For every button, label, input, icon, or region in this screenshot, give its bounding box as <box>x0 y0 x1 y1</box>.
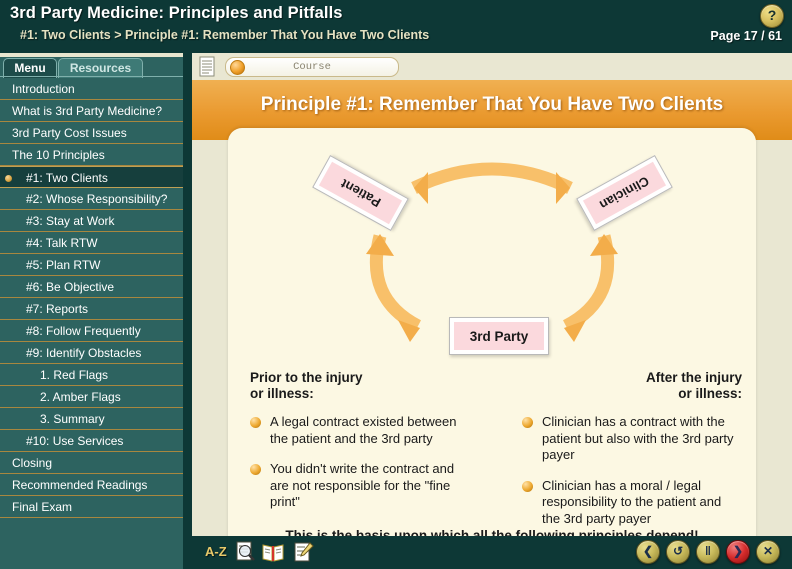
course-tab[interactable]: Course <box>225 57 399 77</box>
left-heading-line1: Prior to the injury <box>250 370 363 385</box>
right-heading-line2: or illness: <box>678 386 742 401</box>
sidebar-item-8-follow-frequently[interactable]: #8: Follow Frequently <box>0 320 183 342</box>
bullet-item: A legal contract existed between the pat… <box>250 414 465 447</box>
page-indicator: Page 17 / 61 <box>710 29 782 43</box>
back-button[interactable]: ❮ <box>636 540 660 564</box>
notes-pencil-icon[interactable] <box>293 541 315 563</box>
sidebar-item-closing[interactable]: Closing <box>0 452 183 474</box>
diagram-node-third-party-label: 3rd Party <box>454 322 544 350</box>
sidebar-item-label: #4: Talk RTW <box>0 232 183 254</box>
bullet-dot-icon <box>522 481 533 492</box>
course-player: 3rd Party Medicine: Principles and Pitfa… <box>0 0 792 569</box>
sidebar-item-3-stay-at-work[interactable]: #3: Stay at Work <box>0 210 183 232</box>
content-topbar: Course <box>192 53 792 80</box>
bullet-text: Clinician has a moral / legal responsibi… <box>542 478 721 526</box>
glossary-book-icon[interactable] <box>262 541 284 563</box>
bullet-item: Clinician has a contract with the patien… <box>522 414 742 464</box>
course-title: 3rd Party Medicine: Principles and Pitfa… <box>10 4 343 23</box>
sidebar-item-label: #1: Two Clients <box>0 167 183 189</box>
bullet-text: You didn't write the contract and are no… <box>270 461 454 509</box>
sidebar-item-3-summary[interactable]: 3. Summary <box>0 408 183 430</box>
left-column: Prior to the injury or illness: A legal … <box>250 370 465 525</box>
sidebar-item-1-red-flags[interactable]: 1. Red Flags <box>0 364 183 386</box>
right-column: After the injury or illness: Clinician h… <box>522 370 742 541</box>
relationship-diagram: Patient Clinician 3rd Party <box>228 128 756 358</box>
playback-controls: ❮↺‖❯✕ <box>630 540 780 564</box>
slide-panel: Patient Clinician 3rd Party Prior to the… <box>228 128 756 563</box>
course-status-dot <box>230 60 245 75</box>
sidebar-item-3rd-party-cost-issues[interactable]: 3rd Party Cost Issues <box>0 122 183 144</box>
sidebar-item-10-use-services[interactable]: #10: Use Services <box>0 430 183 452</box>
slide-stage: Principle #1: Remember That You Have Two… <box>192 80 792 569</box>
bullet-dot-icon <box>250 464 261 475</box>
diagram-node-third-party: 3rd Party <box>449 317 549 355</box>
tab-menu[interactable]: Menu <box>3 58 57 78</box>
sidebar: Menu Resources IntroductionWhat is 3rd P… <box>0 57 183 569</box>
sidebar-item-6-be-objective[interactable]: #6: Be Objective <box>0 276 183 298</box>
bullet-item: You didn't write the contract and are no… <box>250 461 465 511</box>
sidebar-item-recommended-readings[interactable]: Recommended Readings <box>0 474 183 496</box>
sidebar-item-label: 1. Red Flags <box>0 364 183 386</box>
sidebar-item-2-whose-responsibility[interactable]: #2: Whose Responsibility? <box>0 188 183 210</box>
content-frame: Course Principle #1: Remember That You H… <box>192 53 792 569</box>
slide-title: Principle #1: Remember That You Have Two… <box>192 94 792 116</box>
left-column-heading: Prior to the injury or illness: <box>250 370 465 402</box>
main-content: Course Principle #1: Remember That You H… <box>183 53 792 569</box>
sidebar-item-label: #8: Follow Frequently <box>0 320 183 342</box>
tab-resources[interactable]: Resources <box>58 58 143 78</box>
course-tab-label: Course <box>226 58 398 76</box>
sidebar-item-label: #7: Reports <box>0 298 183 320</box>
sidebar-nav-list: IntroductionWhat is 3rd Party Medicine?3… <box>0 78 183 518</box>
help-icon[interactable]: ? <box>760 4 784 28</box>
right-heading-line1: After the injury <box>646 370 742 385</box>
sidebar-item-label: 2. Amber Flags <box>0 386 183 408</box>
replay-button[interactable]: ↺ <box>666 540 690 564</box>
sidebar-item-label: What is 3rd Party Medicine? <box>0 100 183 122</box>
bullet-dot-icon <box>250 417 261 428</box>
sidebar-item-4-talk-rtw[interactable]: #4: Talk RTW <box>0 232 183 254</box>
bullet-dot-icon <box>522 417 533 428</box>
right-column-heading: After the injury or illness: <box>522 370 742 402</box>
sidebar-item-label: 3. Summary <box>0 408 183 430</box>
sidebar-item-label: #10: Use Services <box>0 430 183 452</box>
sidebar-item-label: #3: Stay at Work <box>0 210 183 232</box>
sidebar-item-label: 3rd Party Cost Issues <box>0 122 183 144</box>
tab-underline <box>0 76 183 77</box>
document-icon <box>199 56 217 77</box>
sidebar-item-label: #2: Whose Responsibility? <box>0 188 183 210</box>
search-icon[interactable] <box>235 541 257 563</box>
sidebar-item-label: #9: Identify Obstacles <box>0 342 183 364</box>
next-button[interactable]: ❯ <box>726 540 750 564</box>
sidebar-item-label: Final Exam <box>0 496 183 518</box>
bullet-text: A legal contract existed between the pat… <box>270 414 456 446</box>
sidebar-item-1-two-clients[interactable]: #1: Two Clients <box>0 166 183 188</box>
sidebar-item-9-identify-obstacles[interactable]: #9: Identify Obstacles <box>0 342 183 364</box>
sidebar-item-label: #5: Plan RTW <box>0 254 183 276</box>
bottom-toolbar: A-Z ❮↺‖❯✕ <box>183 536 792 569</box>
breadcrumb: #1: Two Clients > Principle #1: Remember… <box>20 28 429 42</box>
app-header: 3rd Party Medicine: Principles and Pitfa… <box>0 0 792 53</box>
sidebar-item-label: #6: Be Objective <box>0 276 183 298</box>
sidebar-item-final-exam[interactable]: Final Exam <box>0 496 183 518</box>
left-bullet-list: A legal contract existed between the pat… <box>250 414 465 511</box>
sidebar-item-the-10-principles[interactable]: The 10 Principles <box>0 144 183 166</box>
sidebar-item-what-is-3rd-party-medicine[interactable]: What is 3rd Party Medicine? <box>0 100 183 122</box>
right-bullet-list: Clinician has a contract with the patien… <box>522 414 742 527</box>
sidebar-item-label: Introduction <box>0 78 183 100</box>
selected-bullet-icon <box>5 175 12 182</box>
close-button[interactable]: ✕ <box>756 540 780 564</box>
sidebar-item-7-reports[interactable]: #7: Reports <box>0 298 183 320</box>
sidebar-item-label: Closing <box>0 452 183 474</box>
az-index-label[interactable]: A-Z <box>205 544 227 559</box>
bullet-item: Clinician has a moral / legal responsibi… <box>522 478 742 528</box>
sidebar-tabs: Menu Resources <box>0 57 183 77</box>
sidebar-item-5-plan-rtw[interactable]: #5: Plan RTW <box>0 254 183 276</box>
sidebar-item-2-amber-flags[interactable]: 2. Amber Flags <box>0 386 183 408</box>
sidebar-item-label: Recommended Readings <box>0 474 183 496</box>
pause-button[interactable]: ‖ <box>696 540 720 564</box>
sidebar-item-introduction[interactable]: Introduction <box>0 78 183 100</box>
bullet-text: Clinician has a contract with the patien… <box>542 414 734 462</box>
sidebar-item-label: The 10 Principles <box>0 144 183 166</box>
left-heading-line2: or illness: <box>250 386 314 401</box>
